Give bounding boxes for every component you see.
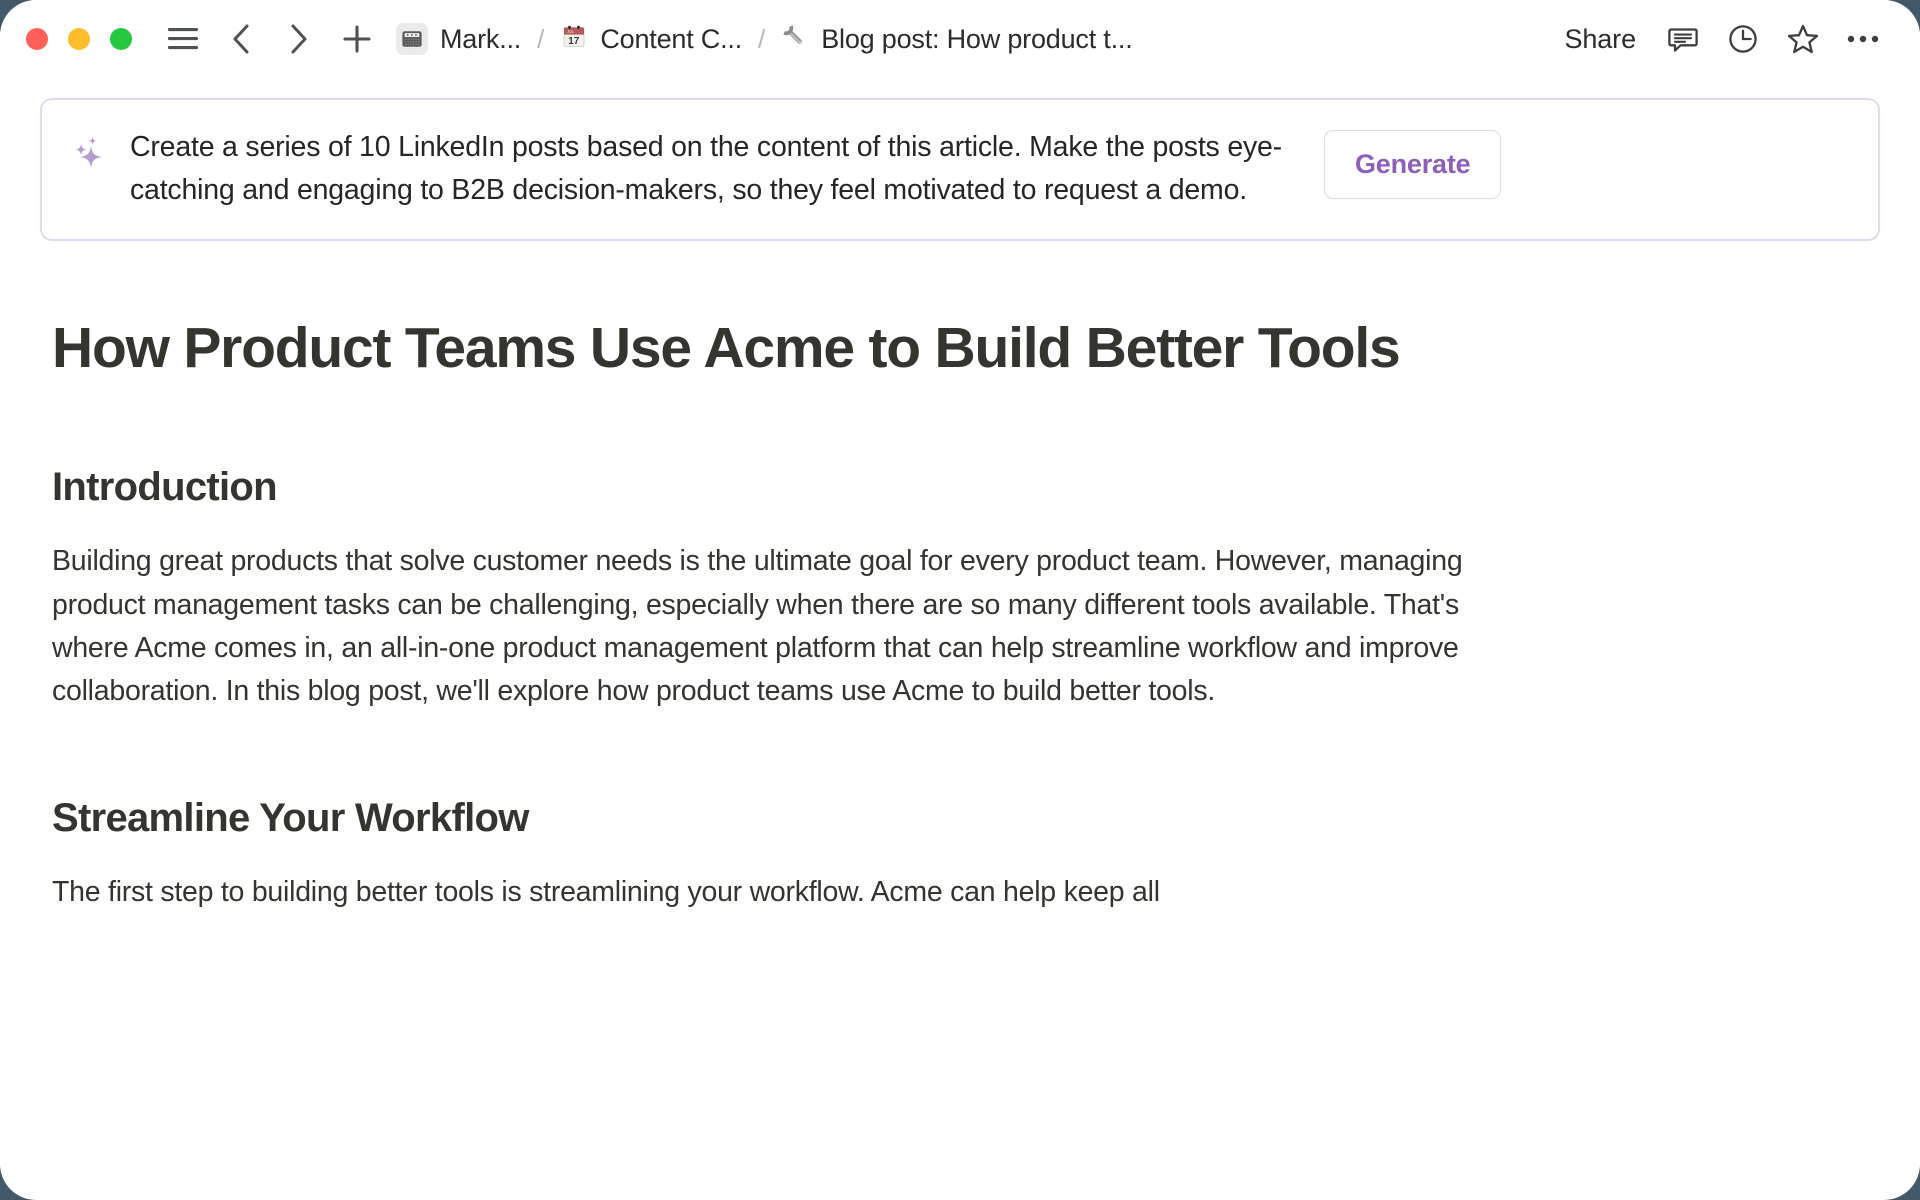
navigation-controls bbox=[166, 22, 374, 56]
star-icon[interactable] bbox=[1786, 22, 1820, 56]
history-clock-icon[interactable] bbox=[1726, 22, 1760, 56]
ai-prompt-text[interactable]: Create a series of 10 LinkedIn posts bas… bbox=[130, 124, 1290, 213]
section-heading-introduction[interactable]: Introduction bbox=[52, 465, 1880, 510]
svg-text:17: 17 bbox=[569, 35, 581, 46]
breadcrumb-label: Mark... bbox=[440, 24, 521, 55]
close-window-button[interactable] bbox=[26, 28, 48, 50]
page-title[interactable]: How Product Teams Use Acme to Build Bett… bbox=[52, 313, 1432, 384]
breadcrumb-item-marketing[interactable]: Mark... bbox=[396, 23, 521, 55]
titlebar: Mark... / JUL 17 bbox=[0, 0, 1920, 78]
document-body: How Product Teams Use Acme to Build Bett… bbox=[40, 313, 1880, 914]
breadcrumb-item-content-calendar[interactable]: JUL 17 Content C... bbox=[560, 23, 742, 56]
section-paragraph-streamline-your-workflow[interactable]: The first step to building better tools … bbox=[52, 871, 1522, 914]
app-window: Mark... / JUL 17 bbox=[0, 0, 1920, 1200]
breadcrumb-separator: / bbox=[521, 24, 560, 55]
svg-text:JUL: JUL bbox=[567, 29, 575, 34]
film-frames-icon bbox=[396, 23, 428, 55]
window-controls bbox=[26, 28, 132, 50]
add-icon[interactable] bbox=[340, 22, 374, 56]
section-heading-streamline-your-workflow[interactable]: Streamline Your Workflow bbox=[52, 796, 1880, 841]
calendar-icon: JUL 17 bbox=[560, 23, 588, 56]
titlebar-actions: Share bbox=[1564, 22, 1880, 56]
menu-icon[interactable] bbox=[166, 22, 200, 56]
document-area: Create a series of 10 LinkedIn posts bas… bbox=[0, 98, 1920, 914]
ai-prompt-card: Create a series of 10 LinkedIn posts bas… bbox=[40, 98, 1880, 241]
forward-icon[interactable] bbox=[282, 22, 316, 56]
wrench-icon bbox=[781, 23, 809, 56]
more-options-icon[interactable] bbox=[1846, 22, 1880, 56]
breadcrumb-separator: / bbox=[742, 24, 781, 55]
breadcrumb-item-blog-post[interactable]: Blog post: How product t... bbox=[781, 23, 1132, 56]
minimize-window-button[interactable] bbox=[68, 28, 90, 50]
generate-button[interactable]: Generate bbox=[1324, 130, 1501, 199]
comment-icon[interactable] bbox=[1666, 22, 1700, 56]
share-button[interactable]: Share bbox=[1564, 24, 1636, 55]
back-icon[interactable] bbox=[224, 22, 258, 56]
maximize-window-button[interactable] bbox=[110, 28, 132, 50]
breadcrumb-label: Content C... bbox=[600, 24, 742, 55]
breadcrumb: Mark... / JUL 17 bbox=[396, 23, 1544, 56]
breadcrumb-label: Blog post: How product t... bbox=[821, 24, 1132, 55]
sparkles-icon bbox=[68, 132, 110, 174]
section-paragraph-introduction[interactable]: Building great products that solve custo… bbox=[52, 540, 1522, 713]
